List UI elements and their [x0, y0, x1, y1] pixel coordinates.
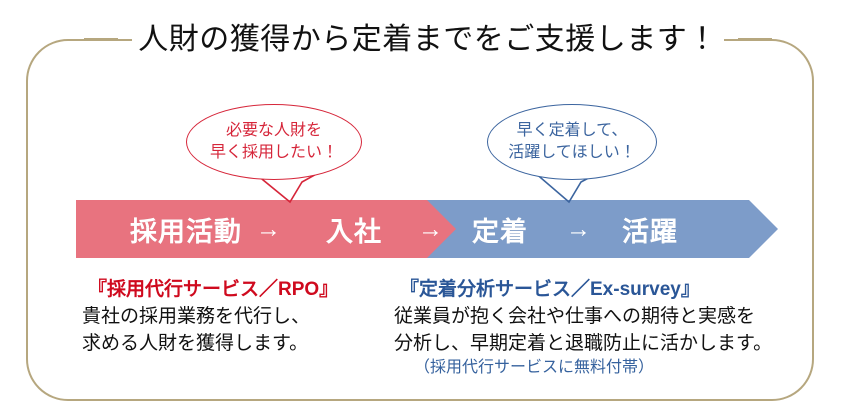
bubble-recruit-line-2: 早く採用したい！: [210, 142, 338, 164]
title-rule-right-icon: [738, 38, 772, 41]
bubble-recruit-line-1: 必要な人財を: [226, 120, 322, 142]
service-rpo-body-line-1: 貴社の採用業務を代行し、: [82, 304, 376, 330]
diagram-canvas: 人財の獲得から定着までをご支援します！ 必要な人財を 早く採用したい！ 早く定着…: [0, 0, 856, 419]
service-exsurvey-heading: 『定着分析サービス／Ex-survey』: [392, 278, 792, 302]
process-segment-retain-shape: [406, 200, 778, 258]
service-exsurvey-body: 従業員が抱く会社や仕事への期待と実感を 分析し、早期定着と退職防止に活かします。: [392, 304, 792, 356]
title-rule-left-icon: [84, 38, 118, 41]
page-title: 人財の獲得から定着までをご支援します！: [132, 23, 724, 56]
process-segment-recruit-shape: [76, 200, 456, 258]
page-title-row: 人財の獲得から定着までをご支援します！: [0, 16, 856, 62]
bubble-retain-line-2: 活躍してほしい！: [508, 142, 636, 164]
speech-bubble-recruit: 必要な人財を 早く採用したい！: [186, 104, 362, 180]
bubble-retain-line-1: 早く定着して、: [517, 120, 628, 142]
service-block-exsurvey: 『定着分析サービス／Ex-survey』 従業員が抱く会社や仕事への期待と実感を…: [392, 278, 792, 379]
service-rpo-heading: 『採用代行サービス／RPO』: [76, 278, 376, 302]
service-rpo-body: 貴社の採用業務を代行し、 求める人財を獲得します。: [76, 304, 376, 356]
service-exsurvey-body-line-2: 分析し、早期定着と退職防止に活かします。: [394, 331, 792, 357]
service-block-rpo: 『採用代行サービス／RPO』 貴社の採用業務を代行し、 求める人財を獲得します。: [76, 278, 376, 357]
service-exsurvey-note: （採用代行サービスに無料付帯）: [392, 358, 792, 379]
service-exsurvey-body-line-1: 従業員が抱く会社や仕事への期待と実感を: [394, 304, 792, 330]
speech-bubble-retain: 早く定着して、 活躍してほしい！: [487, 104, 657, 180]
service-rpo-body-line-2: 求める人財を獲得します。: [82, 331, 376, 357]
process-arrow-band: [76, 200, 778, 258]
